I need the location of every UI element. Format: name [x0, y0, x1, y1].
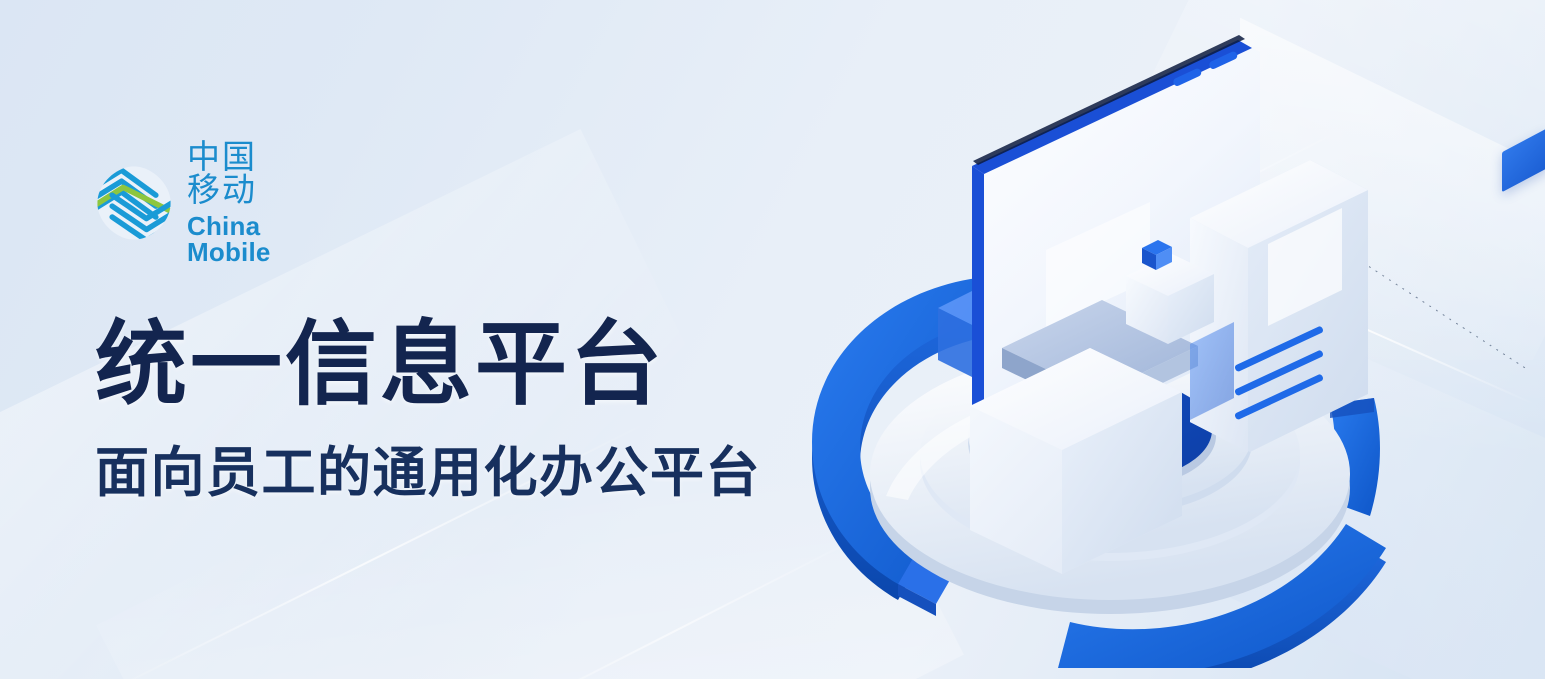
background-blue-cube — [1502, 128, 1545, 192]
page-subtitle: 面向员工的通用化办公平台 — [95, 443, 761, 503]
brand-logo: 中国移动 China Mobile — [95, 140, 271, 265]
isometric-platform-illustration — [790, 18, 1430, 668]
brand-name-en: China Mobile — [187, 213, 271, 265]
brand-name-block: 中国移动 China Mobile — [187, 140, 271, 265]
page-title: 统一信息平台 — [95, 315, 665, 414]
hero-banner: 中国移动 China Mobile 统一信息平台 面向员工的通用化办公平台 — [0, 0, 1545, 679]
china-mobile-logo-icon — [95, 164, 173, 242]
brand-name-cn: 中国移动 — [187, 140, 271, 206]
